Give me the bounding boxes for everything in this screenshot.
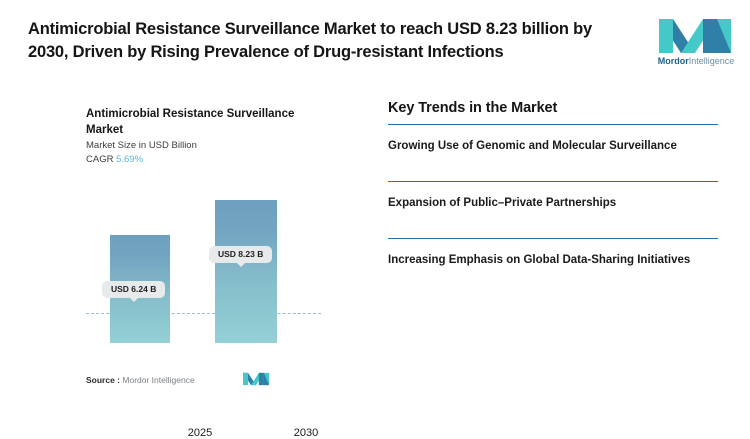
x-axis-tick-2030: 2030 bbox=[266, 427, 346, 439]
bar-2030 bbox=[215, 200, 277, 343]
bar-value-label-2025: USD 6.24 B bbox=[102, 281, 165, 298]
brand-wordmark-bold: Mordor bbox=[658, 56, 689, 66]
brand-wordmark-light: Intelligence bbox=[689, 56, 735, 66]
key-trends-heading: Key Trends in the Market bbox=[388, 100, 718, 116]
source-value: Mordor Intelligence bbox=[122, 375, 194, 385]
cagr-label: CAGR bbox=[86, 154, 113, 165]
trend-item-2-text: Expansion of Public–Private Partnerships bbox=[388, 195, 703, 211]
header: Antimicrobial Resistance Surveillance Ma… bbox=[0, 0, 750, 88]
bar-value-label-2030: USD 8.23 B bbox=[209, 246, 272, 263]
trend-item-1: Growing Use of Genomic and Molecular Sur… bbox=[388, 124, 718, 181]
brand-wordmark: MordorIntelligence bbox=[654, 57, 738, 66]
bar-chart-plot-area: USD 6.24 B USD 8.23 B 2025 2030 bbox=[86, 168, 321, 343]
trend-item-2: Expansion of Public–Private Partnerships bbox=[388, 181, 718, 238]
source-logo-icon bbox=[243, 372, 269, 386]
trend-item-3-text: Increasing Emphasis on Global Data-Shari… bbox=[388, 252, 703, 268]
chart-subtitle: Market Size in USD Billion bbox=[86, 140, 197, 151]
page-title: Antimicrobial Resistance Surveillance Ma… bbox=[28, 18, 628, 65]
market-size-chart-panel: Antimicrobial Resistance Surveillance Ma… bbox=[0, 88, 370, 409]
x-axis-tick-2025: 2025 bbox=[160, 427, 240, 439]
mordor-intelligence-logo-icon bbox=[659, 17, 731, 55]
brand-logo: MordorIntelligence bbox=[654, 17, 738, 75]
source-attribution: Source : Mordor Intelligence bbox=[86, 375, 195, 385]
cagr-value: 5.69% bbox=[116, 154, 143, 165]
source-label: Source : bbox=[86, 375, 120, 385]
key-trends-panel: Key Trends in the Market Growing Use of … bbox=[388, 100, 718, 365]
chart-cagr: CAGR 5.69% bbox=[86, 154, 143, 165]
trend-item-1-text: Growing Use of Genomic and Molecular Sur… bbox=[388, 138, 703, 154]
chart-title: Antimicrobial Resistance Surveillance Ma… bbox=[86, 107, 301, 138]
trend-item-3: Increasing Emphasis on Global Data-Shari… bbox=[388, 238, 718, 295]
